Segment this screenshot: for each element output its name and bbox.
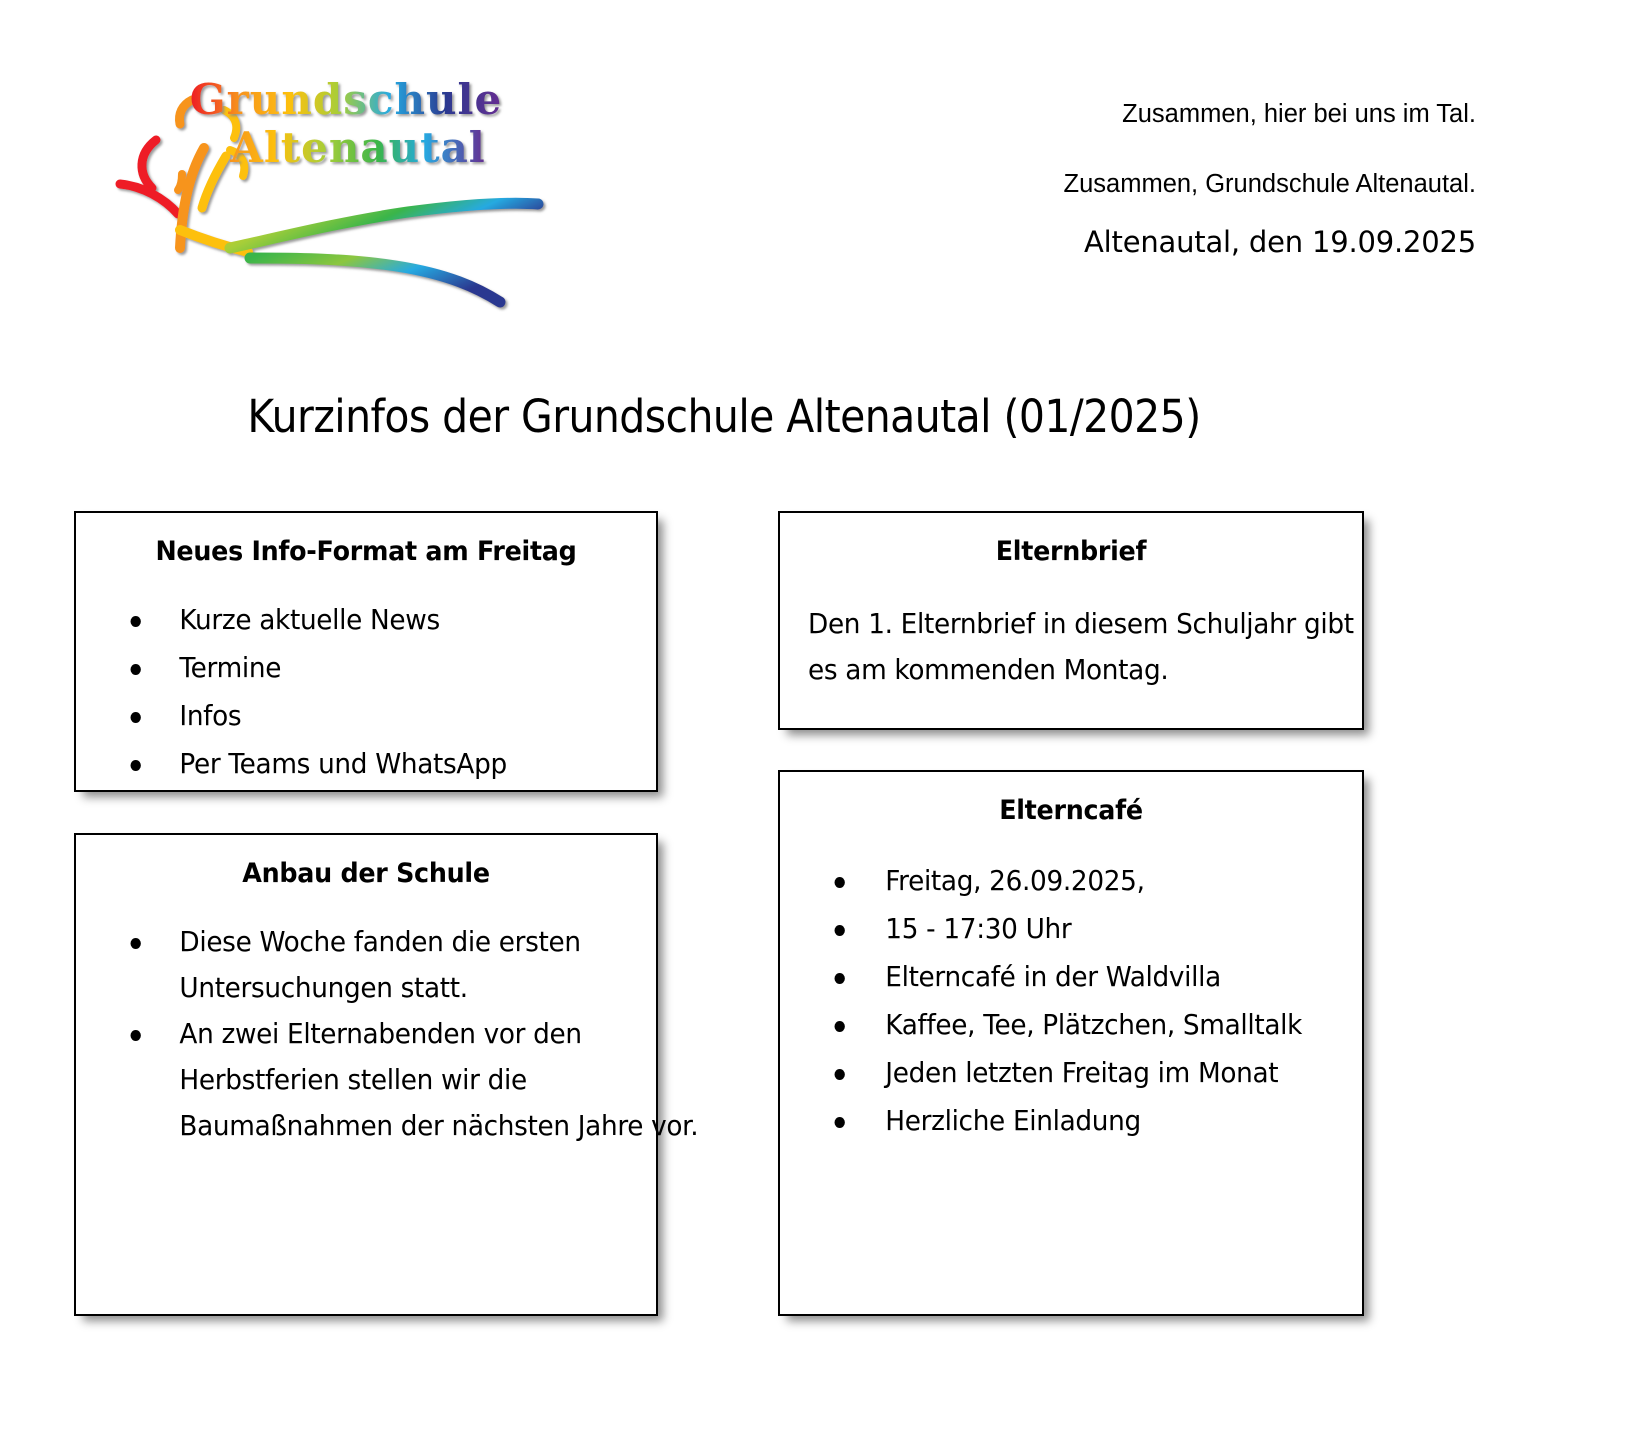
card-info-format-bullet-list: Kurze aktuelle News Termine Infos Per Te… [76,597,656,787]
card-anbau-title: Anbau der Schule [103,857,629,891]
card-elternbrief-body: Den 1. Elternbrief in diesem Schuljahr g… [780,601,1362,693]
card-info-format-body: Kurze aktuelle News Termine Infos Per Te… [76,597,656,787]
page-title: Kurzinfos der Grundschule Altenautal (01… [65,388,1383,446]
card-info-format: Neues Info-Format am Freitag Kurze aktue… [74,511,658,792]
motto-line-2: Zusammen, Grundschule Altenautal. [836,167,1476,202]
school-logo: Grundschule Altenautal [108,62,578,312]
list-item: An zwei Elternabenden vor den Herbstferi… [76,1011,739,1149]
list-item: Diese Woche fanden die ersten Untersuchu… [76,919,739,1011]
card-anbau-der-schule: Anbau der Schule Diese Woche fanden die … [74,833,658,1316]
card-elternbrief-title: Elternbrief [807,535,1335,569]
list-item: Kaffee, Tee, Plätzchen, Smalltalk [780,1002,1447,1048]
motto-line-1: Zusammen, hier bei uns im Tal. [836,97,1476,132]
card-anbau-bullet-list: Diese Woche fanden die ersten Untersuchu… [76,919,656,1149]
card-elternbrief-paragraph: Den 1. Elternbrief in diesem Schuljahr g… [808,601,1410,693]
card-elternbrief: Elternbrief Den 1. Elternbrief in diesem… [778,511,1364,730]
school-motto: Zusammen, hier bei uns im Tal. Zusammen,… [836,62,1476,237]
card-elterncafe-bullet-list: Freitag, 26.09.2025, 15 - 17:30 Uhr Elte… [780,858,1362,1144]
logo-word-altenautal: Altenautal [229,123,486,172]
card-elterncafe-body: Freitag, 26.09.2025, 15 - 17:30 Uhr Elte… [780,858,1362,1144]
list-item: Kurze aktuelle News [76,597,739,643]
list-item: 15 - 17:30 Uhr [780,906,1447,952]
list-item: Termine [76,645,739,691]
list-item: Herzliche Einladung [780,1098,1447,1144]
place-and-date: Altenautal, den 19.09.2025 [836,222,1476,262]
list-item: Per Teams und WhatsApp [76,741,739,787]
list-item: Infos [76,693,739,739]
logo-word-grundschule: Grundschule [190,75,502,124]
card-elterncafe: Elterncafé Freitag, 26.09.2025, 15 - 17:… [778,770,1364,1316]
list-item: Jeden letzten Freitag im Monat [780,1050,1447,1096]
card-anbau-body: Diese Woche fanden die ersten Untersuchu… [76,919,656,1149]
card-elterncafe-title: Elterncafé [807,794,1335,828]
list-item: Elterncafé in der Waldvilla [780,954,1447,1000]
list-item: Freitag, 26.09.2025, [780,858,1447,904]
card-info-format-title: Neues Info-Format am Freitag [103,535,629,569]
